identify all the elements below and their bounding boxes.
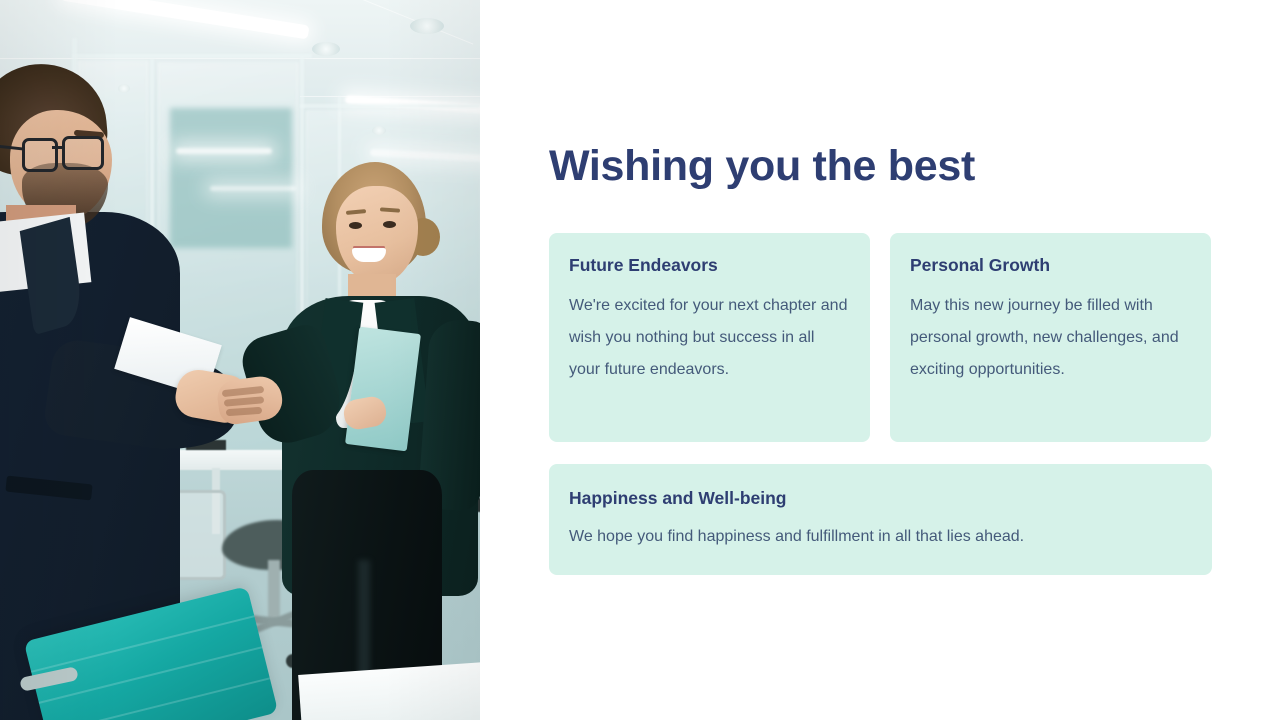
woman-smile xyxy=(352,248,386,262)
card-future-endeavors[interactable]: Future Endeavors We're excited for your … xyxy=(549,233,870,442)
hero-photo xyxy=(0,0,480,720)
ceiling-vent-icon xyxy=(410,18,444,34)
woman-eye xyxy=(383,221,396,228)
card-body: May this new journey be filled with pers… xyxy=(910,290,1191,386)
card-body: We hope you find happiness and fulfillme… xyxy=(569,527,1192,548)
card-title: Happiness and Well-being xyxy=(569,488,1192,509)
card-title: Future Endeavors xyxy=(569,255,850,276)
content-panel: Wishing you the best Future Endeavors We… xyxy=(480,0,1280,720)
ceiling-vent-icon xyxy=(312,42,340,56)
glasses-icon xyxy=(62,136,104,170)
glass-transom xyxy=(300,104,480,108)
chair-post xyxy=(268,560,280,624)
card-title: Personal Growth xyxy=(910,255,1191,276)
ceiling-seam xyxy=(300,96,480,97)
glasses-icon xyxy=(22,138,58,172)
woman-eye xyxy=(349,222,362,229)
reflected-light-icon xyxy=(210,186,296,191)
cards-top-row: Future Endeavors We're excited for your … xyxy=(549,233,1212,442)
office-handshake-photo xyxy=(0,0,480,720)
card-personal-growth[interactable]: Personal Growth May this new journey be … xyxy=(890,233,1211,442)
card-body: We're excited for your next chapter and … xyxy=(569,290,850,386)
chair-seam xyxy=(46,677,270,720)
slide-root: Wishing you the best Future Endeavors We… xyxy=(0,0,1280,720)
teal-wall-panel xyxy=(170,108,292,248)
glass-transom xyxy=(72,54,312,58)
page-title: Wishing you the best xyxy=(549,142,975,191)
glasses-bridge-icon xyxy=(52,146,64,149)
card-happiness-and-wellbeing[interactable]: Happiness and Well-being We hope you fin… xyxy=(549,464,1212,575)
cards-container: Future Endeavors We're excited for your … xyxy=(549,233,1212,575)
reflected-light-icon xyxy=(176,148,272,154)
